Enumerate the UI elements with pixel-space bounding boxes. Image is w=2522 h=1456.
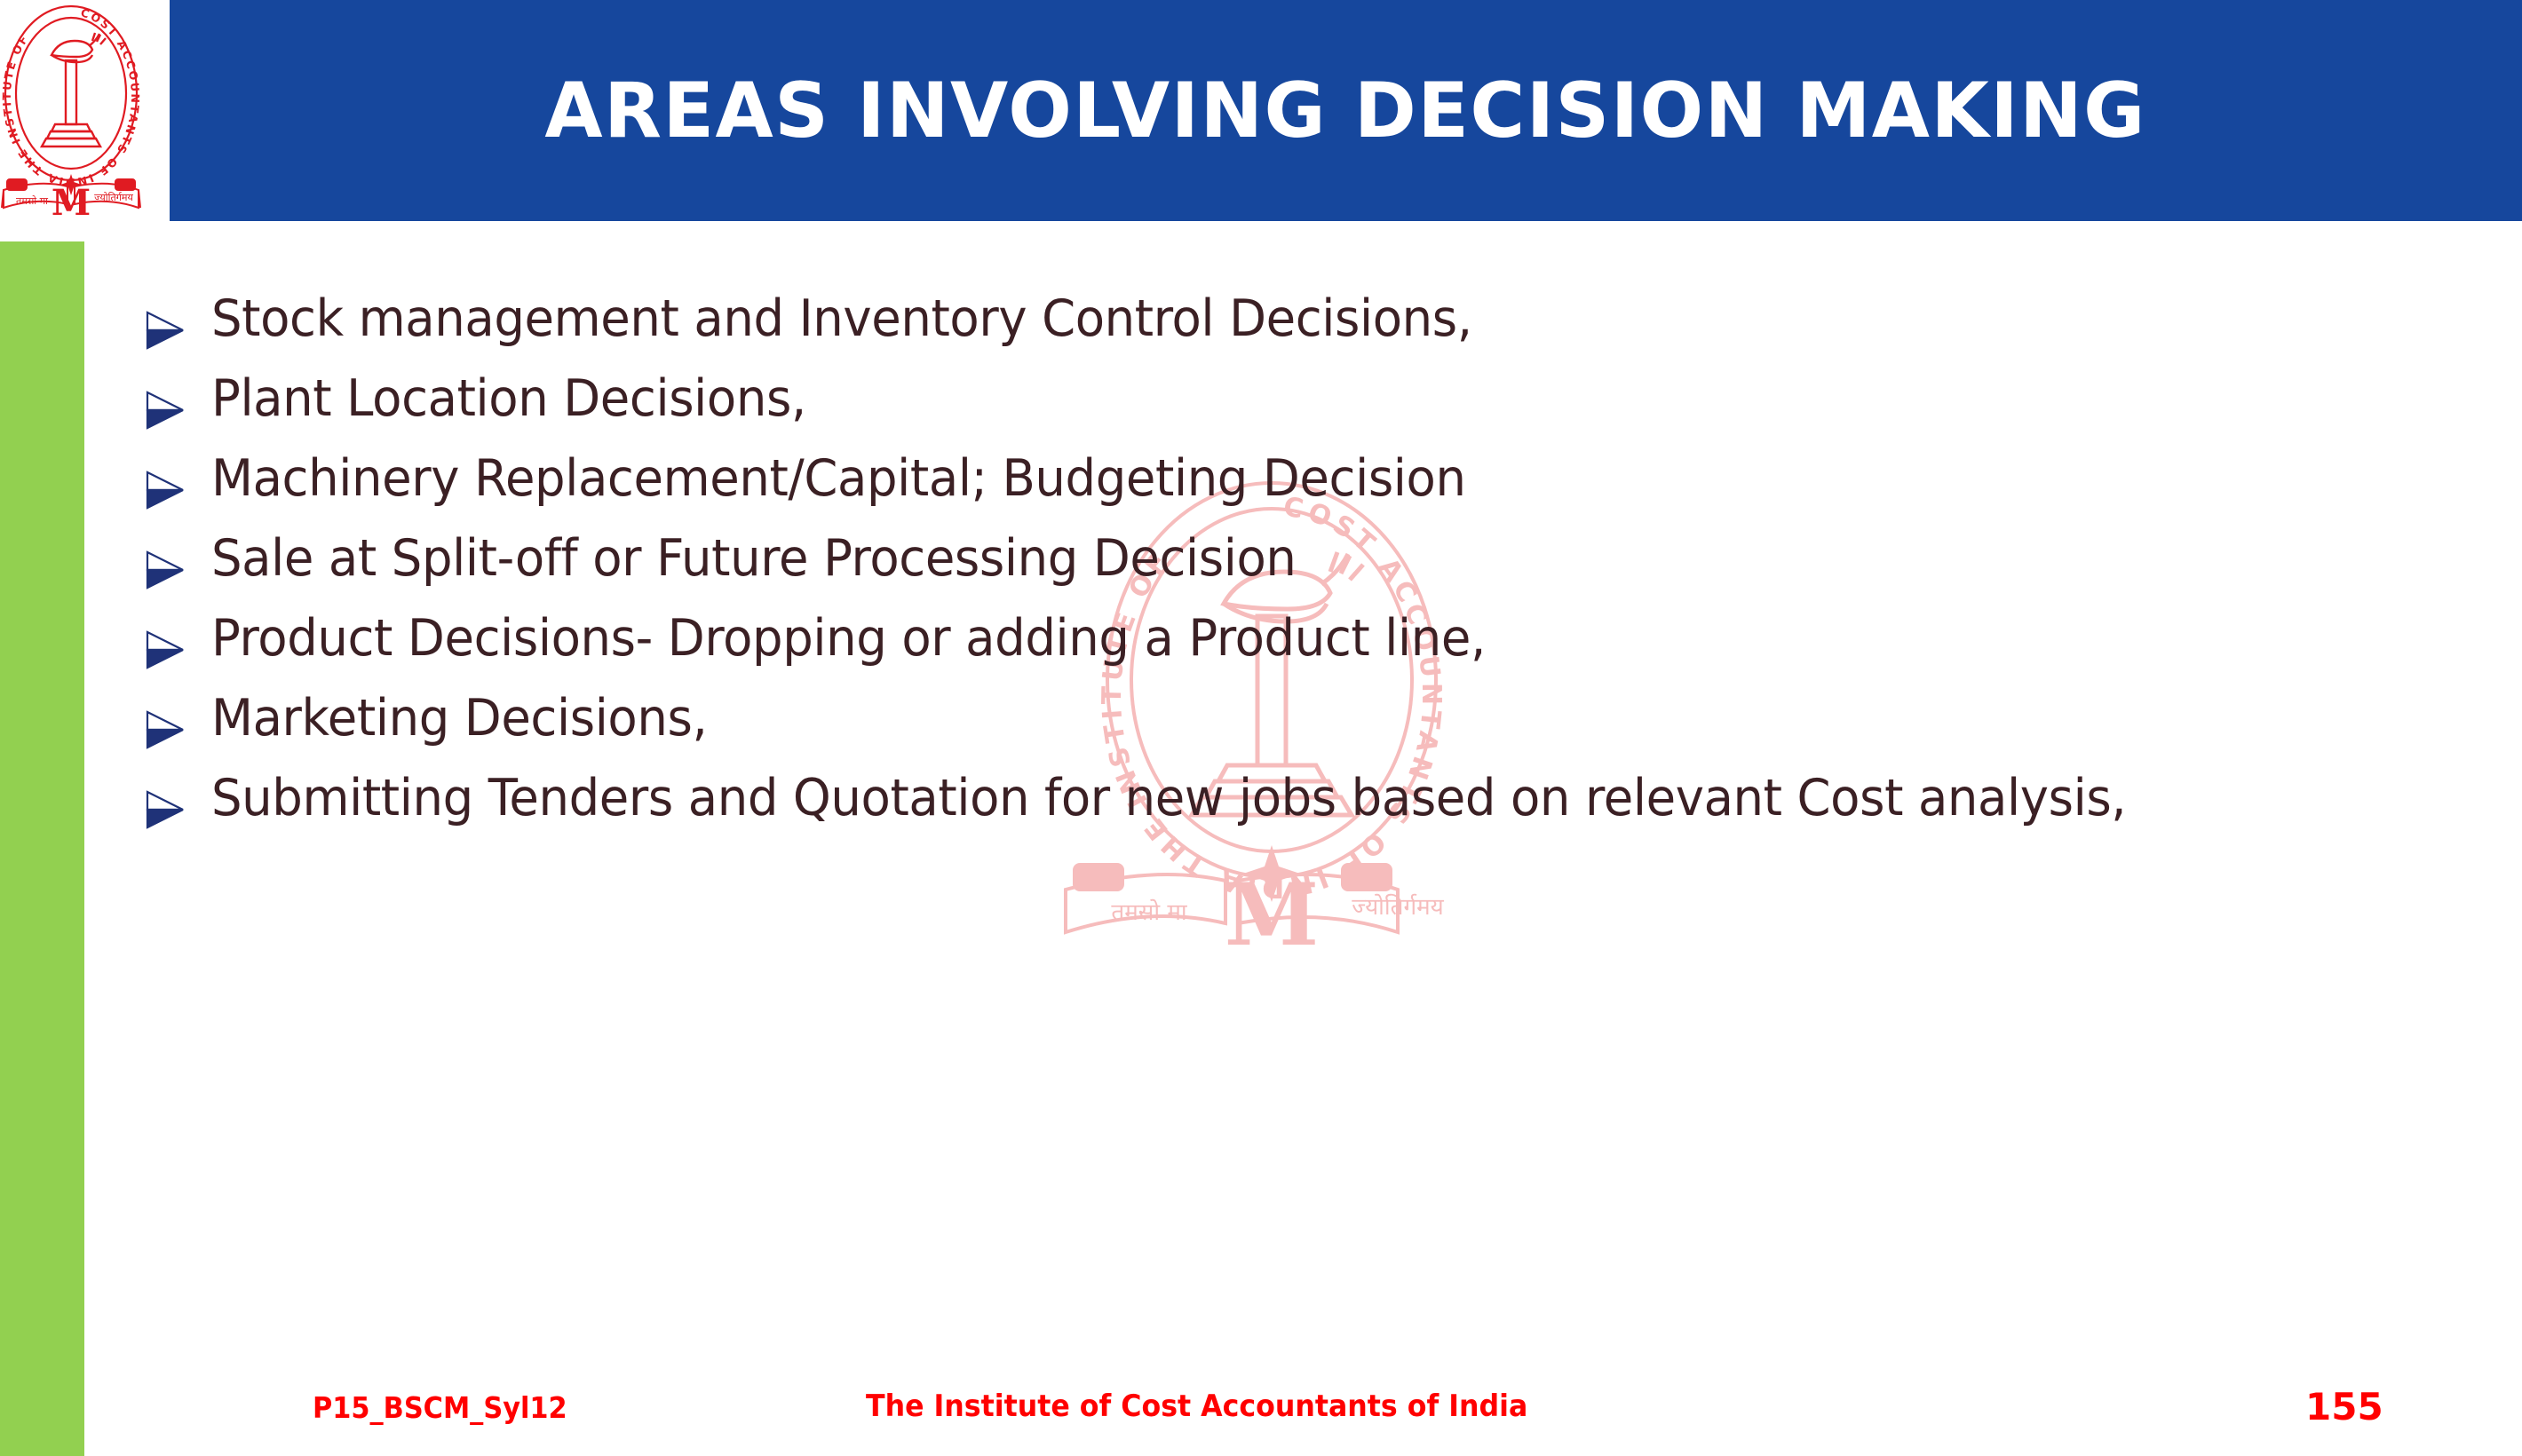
list-item-label: Submitting Tenders and Quotation for new…: [211, 772, 2401, 825]
page-number: 155: [2305, 1385, 2383, 1428]
list-item: Product Decisions- Dropping or adding a …: [142, 613, 2504, 673]
icai-logo: M तमसो मा ज्योतिर्गमय COST ACCOUNTANTS O…: [0, 0, 170, 227]
list-item: Sale at Split-off or Future Processing D…: [142, 533, 2504, 593]
list-item-label: Machinery Replacement/Capital; Budgeting…: [211, 453, 2401, 505]
logo-ring-text: COST ACCOUNTANTS OF INDIA THE INSTITUTE …: [0, 5, 142, 189]
watermark-monogram: M: [1225, 865, 1319, 964]
header-banner: AREAS INVOLVING DECISION MAKING: [170, 0, 2522, 221]
arrow-bullet-icon: [142, 772, 211, 833]
slide-canvas: AREAS INVOLVING DECISION MAKING: [0, 0, 2522, 1456]
arrow-bullet-icon: [142, 613, 211, 673]
logo-motto-left: तमसो मा: [16, 195, 48, 207]
list-item: Machinery Replacement/Capital; Budgeting…: [142, 453, 2504, 513]
list-item-label: Plant Location Decisions,: [211, 373, 2401, 425]
arrow-bullet-icon: [142, 533, 211, 593]
list-item: Marketing Decisions,: [142, 692, 2504, 753]
footer-institute-name: The Institute of Cost Accountants of Ind…: [866, 1389, 1527, 1424]
list-item: Plant Location Decisions,: [142, 373, 2504, 433]
list-item-label: Stock management and Inventory Control D…: [211, 293, 2401, 345]
list-item-label: Marketing Decisions,: [211, 692, 2401, 745]
watermark-motto-left: तमसो मा: [1111, 898, 1187, 926]
list-item-label: Sale at Split-off or Future Processing D…: [211, 533, 2401, 585]
arrow-bullet-icon: [142, 453, 211, 513]
list-item: Stock management and Inventory Control D…: [142, 293, 2504, 353]
bullet-list: Stock management and Inventory Control D…: [142, 293, 2504, 852]
watermark-motto-right: ज्योतिर्गमय: [1352, 893, 1444, 921]
arrow-bullet-icon: [142, 293, 211, 353]
page-title: AREAS INVOLVING DECISION MAKING: [545, 73, 2146, 149]
list-item: Submitting Tenders and Quotation for new…: [142, 772, 2504, 833]
footer: P15_BSCM_Syl12 The Institute of Cost Acc…: [0, 1385, 2522, 1447]
list-item-label: Product Decisions- Dropping or adding a …: [211, 613, 2401, 665]
arrow-bullet-icon: [142, 692, 211, 753]
footer-subject-code: P15_BSCM_Syl12: [313, 1390, 567, 1425]
arrow-bullet-icon: [142, 373, 211, 433]
logo-motto-right: ज्योतिर्गमय: [94, 192, 133, 203]
sidebar-accent-bar: [0, 241, 84, 1456]
